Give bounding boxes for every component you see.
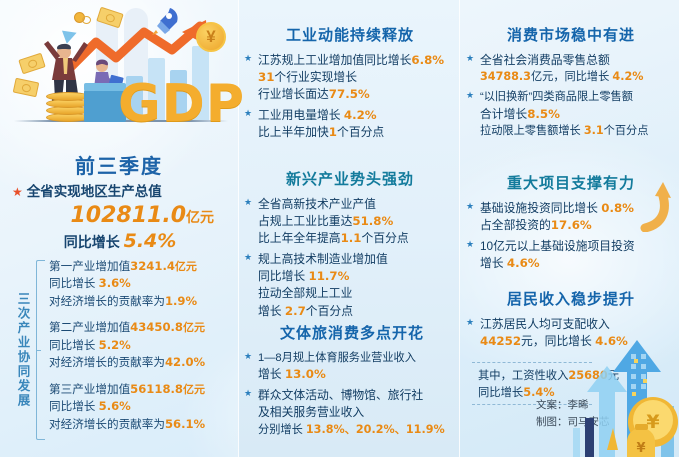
bullet-line: 占全部投资的17.6% <box>480 217 676 234</box>
bullet-item: ★ 全省高新技术产业产值 占规上工业比重达51.8% 比上年全年提高1.1个百分… <box>244 196 456 247</box>
bullet-line: 全省高新技术产业产值 <box>258 196 456 213</box>
bullet-item: ★ “以旧换新”四类商品限上零售额 合计增长8.5% 拉动限上零售额增长 3.1… <box>466 89 676 139</box>
bullet-line: 增长 4.6% <box>480 255 676 272</box>
section-consumer-market: 消费市场稳中有进 ★ 全省社会消费品零售总额 34788.3亿元，同比增长 4.… <box>466 24 676 143</box>
industry-contribution-line: 对经济增长的贡献率为42.0% <box>49 354 238 371</box>
svg-text:¥: ¥ <box>636 441 645 456</box>
star-icon: ★ <box>244 388 252 399</box>
industry-value-line: 第三产业增加值56118.8亿元 <box>49 381 238 398</box>
bullet-item: ★ 10亿元以上基础设施项目投资 增长 4.6% <box>466 238 676 272</box>
period-title: 前三季度 <box>0 150 238 179</box>
star-icon: ★ <box>244 252 252 263</box>
bullet-line: 10亿元以上基础设施项目投资 <box>480 238 676 255</box>
bullet-line: “以旧换新”四类商品限上零售额 <box>480 89 676 105</box>
section-title: 工业动能持续释放 <box>244 24 456 45</box>
star-icon: ★ <box>12 185 23 199</box>
bullet-line: 基础设施投资同比增长 0.8% <box>480 200 676 217</box>
banknote-icon <box>13 78 40 98</box>
rising-arrows-city-icon: ¥ ¥ <box>569 332 679 457</box>
section-title: 新兴产业势头强劲 <box>244 168 456 189</box>
three-industries-label: 三次产业协同发展 <box>10 258 36 442</box>
bullet-line: 江苏居民人均可支配收入 <box>480 316 676 333</box>
star-icon: ★ <box>466 317 474 328</box>
bullet-line: 同比增长 11.7% <box>258 268 456 285</box>
industry-list: 第一产业增加值3241.4亿元 同比增长 3.6% 对经济增长的贡献率为1.9%… <box>49 258 238 442</box>
star-icon: ★ <box>244 351 252 362</box>
industry-value-line: 第一产业增加值3241.4亿元 <box>49 258 238 275</box>
bullet-item: ★ 群众文体活动、博物馆、旅行社 及相关服务营业收入 分别增长 13.8%、20… <box>244 387 460 437</box>
bullet-line: 34788.3亿元，同比增长 4.2% <box>480 69 676 85</box>
star-icon: ★ <box>244 108 252 119</box>
bullet-item: ★ 基础设施投资同比增长 0.8% 占全部投资的17.6% <box>466 200 676 234</box>
bullet-item: ★ 江苏规上工业增加值同比增长6.8% 31个行业实现增长 行业增长面达77.5… <box>244 52 456 103</box>
coin-icon <box>74 12 85 23</box>
section-title: 居民收入稳步提升 <box>466 288 676 309</box>
industry-contribution-line: 对经济增长的贡献率为56.1% <box>49 416 238 433</box>
bullet-line: 拉动限上零售额增长 3.1个百分点 <box>480 123 676 139</box>
three-industries-block: 三次产业协同发展 第一产业增加值3241.4亿元 同比增长 3.6% 对经济增长… <box>10 258 238 442</box>
star-icon: ★ <box>466 201 474 212</box>
list-item: 第一产业增加值3241.4亿元 同比增长 3.6% 对经济增长的贡献率为1.9% <box>49 258 238 310</box>
list-item: 第三产业增加值56118.8亿元 同比增长 5.6% 对经济增长的贡献率为56.… <box>49 381 238 433</box>
bullet-line: 占规上工业比重达51.8% <box>258 213 456 230</box>
section-culture-sports-tourism: 文体旅消费多点开花 ★ 1—8月规上体育服务业营业收入 增长 13.0% ★ 群… <box>244 322 460 442</box>
star-icon: ★ <box>466 239 474 250</box>
bullet-line: 比上年全年提高1.1个百分点 <box>258 230 456 247</box>
bottom-right-illustration: ¥ ¥ <box>569 332 679 457</box>
bullet-line: 分别增长 13.8%、20.2%、11.9% <box>258 422 460 438</box>
bullet-item: ★ 工业用电量增长 4.2% 比上半年加快1个百分点 <box>244 107 456 141</box>
star-icon: ★ <box>244 53 252 64</box>
gdp-headline-block: ★全省实现地区生产总值 102811.0亿元 同比增长 5.4% <box>12 180 228 252</box>
industry-growth-line: 同比增长 5.6% <box>49 398 238 415</box>
gdp-headline-label: ★全省实现地区生产总值 <box>12 180 228 200</box>
bullet-line: 拉动全部规上工业 <box>258 285 456 302</box>
bullet-line: 全省社会消费品零售总额 <box>480 52 676 69</box>
bullet-line: 规上高技术制造业增加值 <box>258 251 456 268</box>
bullet-item: ★ 全省社会消费品零售总额 34788.3亿元，同比增长 4.2% <box>466 52 676 85</box>
bullet-line: 群众文体活动、博物馆、旅行社 <box>258 387 460 404</box>
column-divider <box>238 0 239 457</box>
star-icon: ★ <box>466 90 474 101</box>
bullet-line: 工业用电量增长 4.2% <box>258 107 456 124</box>
hero-illustration: ¥ GDP <box>0 0 238 146</box>
industry-growth-line: 同比增长 3.6% <box>49 275 238 292</box>
gdp-wordmark: GDP <box>118 78 245 130</box>
bullet-item: ★ 1—8月规上体育服务业营业收入 增长 13.0% <box>244 350 460 383</box>
list-item: 第二产业增加值43450.8亿元 同比增长 5.2% 对经济增长的贡献率为42.… <box>49 319 238 371</box>
rocket-icon <box>148 4 182 38</box>
industry-contribution-line: 对经济增长的贡献率为1.9% <box>49 293 238 310</box>
infographic-poster: ¥ GDP <box>0 0 679 457</box>
bullet-line: 增长 13.0% <box>258 366 460 383</box>
section-industrial-momentum: 工业动能持续释放 ★ 江苏规上工业增加值同比增长6.8% 31个行业实现增长 行… <box>244 24 456 145</box>
bullet-line: 1—8月规上体育服务业营业收入 <box>258 350 460 366</box>
bullet-line: 增长 2.7个百分点 <box>258 303 456 320</box>
section-title: 文体旅消费多点开花 <box>244 322 460 343</box>
bullet-line: 行业增长面达77.5% <box>258 86 456 103</box>
coin-icon: ¥ <box>196 22 226 52</box>
bullet-line: 31个行业实现增长 <box>258 69 456 86</box>
section-emerging-industries: 新兴产业势头强劲 ★ 全省高新技术产业产值 占规上工业比重达51.8% 比上年全… <box>244 168 456 324</box>
star-icon: ★ <box>466 53 474 64</box>
bullet-line: 比上半年加快1个百分点 <box>258 124 456 141</box>
gdp-growth-line: 同比增长 5.4% <box>12 230 228 252</box>
section-title: 消费市场稳中有进 <box>466 24 676 45</box>
section-major-projects: 重大项目支撑有力 ★ 基础设施投资同比增长 0.8% 占全部投资的17.6% ★… <box>466 172 676 276</box>
bullet-item: ★ 规上高技术制造业增加值 同比增长 11.7% 拉动全部规上工业 增长 2.7… <box>244 251 456 319</box>
industry-value-line: 第二产业增加值43450.8亿元 <box>49 319 238 336</box>
star-icon: ★ <box>244 197 252 208</box>
bullet-line: 合计增长8.5% <box>480 106 676 123</box>
industry-growth-line: 同比增长 5.2% <box>49 337 238 354</box>
section-title: 重大项目支撑有力 <box>466 172 676 193</box>
svg-text:¥: ¥ <box>646 411 659 433</box>
bullet-line: 江苏规上工业增加值同比增长6.8% <box>258 52 456 69</box>
bracket-decoration <box>36 260 45 440</box>
bullet-line: 及相关服务营业收入 <box>258 404 460 421</box>
gdp-headline-value: 102811.0亿元 <box>12 203 228 228</box>
